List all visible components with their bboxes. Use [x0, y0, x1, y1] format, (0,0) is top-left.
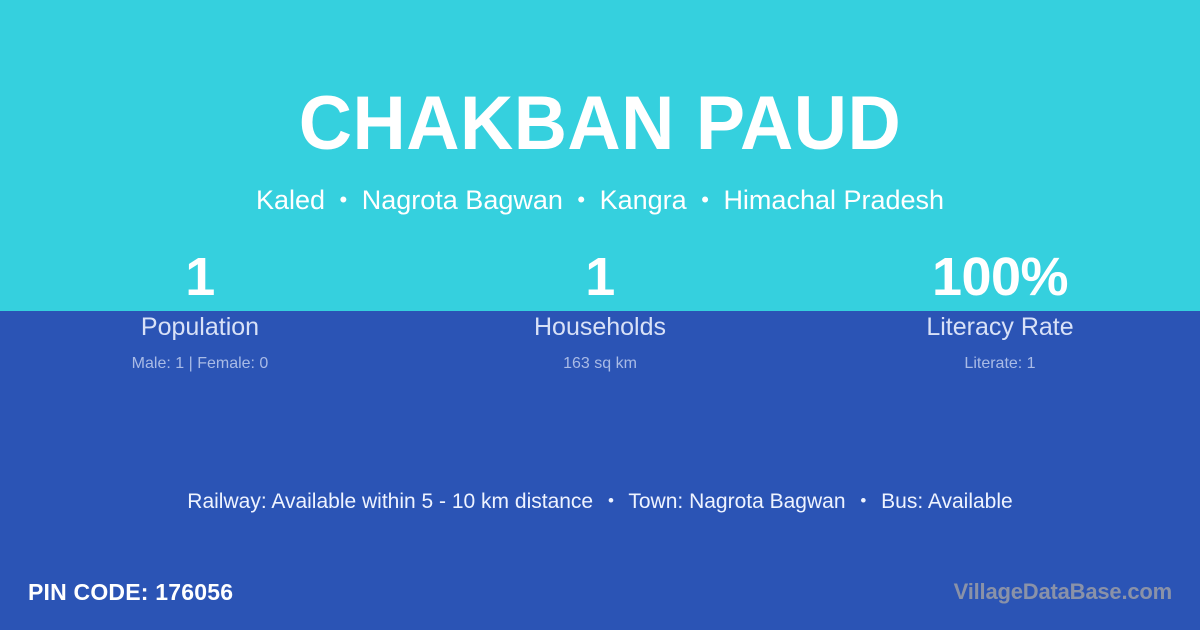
- amenity-bus: Bus: Available: [881, 490, 1013, 513]
- stat-value-literacy-rate: 100%: [800, 246, 1200, 308]
- footer: PIN CODE: 176056 VillageDataBase.com: [0, 572, 1200, 612]
- stat-households: 1 Households 163 sq km: [400, 246, 800, 376]
- stat-label-households: Households: [400, 311, 800, 344]
- amenities-line: Railway: Available within 5 - 10 km dist…: [0, 486, 1200, 517]
- breadcrumb-part-district: Kangra: [600, 185, 687, 215]
- breadcrumb-part-state: Himachal Pradesh: [723, 185, 944, 215]
- breadcrumb-separator-icon: •: [694, 187, 716, 212]
- stat-label-literacy-rate: Literacy Rate: [800, 311, 1200, 344]
- breadcrumb: Kaled • Nagrota Bagwan • Kangra • Himach…: [0, 181, 1200, 219]
- breadcrumb-part-block: Kaled: [256, 185, 325, 215]
- stat-literacy-rate: 100% Literacy Rate Literate: 1: [800, 246, 1200, 376]
- brand-watermark: VillageDataBase.com: [954, 577, 1172, 607]
- stat-value-households: 1: [400, 246, 800, 308]
- stat-value-population: 1: [0, 246, 400, 308]
- pin-code: PIN CODE: 176056: [28, 577, 233, 607]
- stat-population: 1 Population Male: 1 | Female: 0: [0, 246, 400, 376]
- stat-sub-population: Male: 1 | Female: 0: [0, 352, 400, 376]
- amenity-separator-icon: •: [851, 491, 875, 510]
- amenity-railway: Railway: Available within 5 - 10 km dist…: [187, 490, 593, 513]
- amenity-town: Town: Nagrota Bagwan: [628, 490, 845, 513]
- stat-sub-area: 163 sq km: [400, 352, 800, 376]
- breadcrumb-part-subdistrict: Nagrota Bagwan: [362, 185, 563, 215]
- stats-row: 1 Population Male: 1 | Female: 0 1 House…: [0, 246, 1200, 376]
- stat-sub-literate: Literate: 1: [800, 352, 1200, 376]
- page-title: CHAKBAN PAUD: [18, 78, 1182, 170]
- breadcrumb-separator-icon: •: [570, 187, 592, 212]
- amenity-separator-icon: •: [599, 491, 623, 510]
- village-info-card: CHAKBAN PAUD Kaled • Nagrota Bagwan • Ka…: [0, 0, 1200, 630]
- stat-label-population: Population: [0, 311, 400, 344]
- breadcrumb-separator-icon: •: [333, 187, 355, 212]
